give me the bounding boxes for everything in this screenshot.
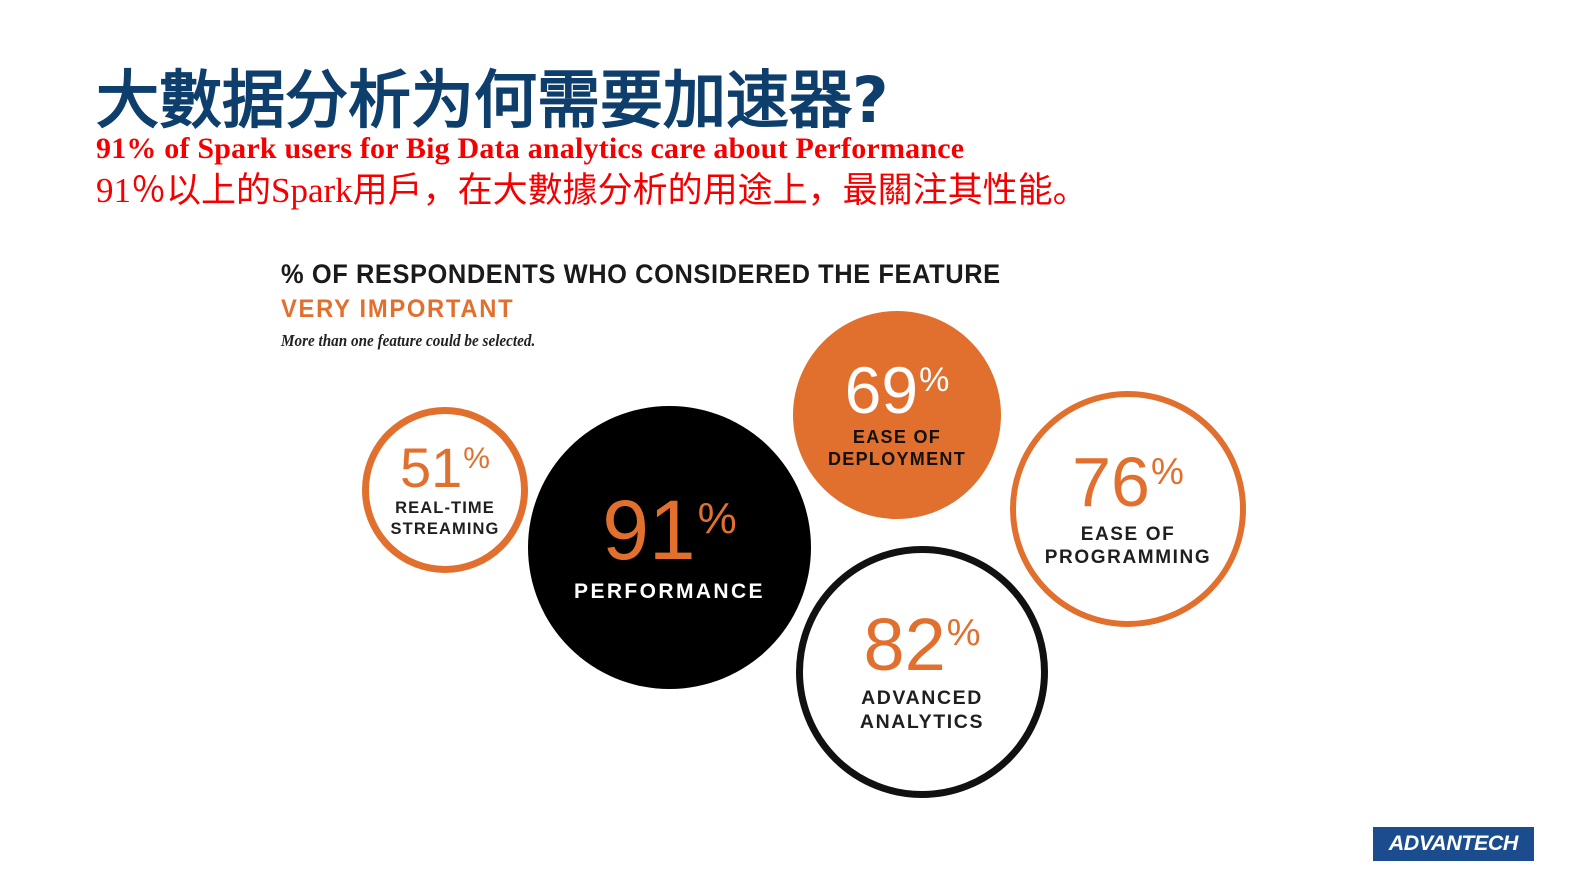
bubble-real-time-streaming: 51 % REAL-TIME STREAMING	[362, 407, 528, 573]
subtitle-block: 91% of Spark users for Big Data analytic…	[96, 131, 1296, 211]
percent-sign: %	[463, 444, 490, 474]
bubble-value-performance: 91 %	[602, 491, 737, 571]
page-title: 大數据分析为何需要加速器?	[96, 68, 889, 134]
bubble-value-real-time-streaming: 51 %	[400, 441, 490, 494]
slide-canvas: 大數据分析为何需要加速器? 91% of Spark users for Big…	[0, 0, 1587, 892]
bubble-advanced-analytics: 82 % ADVANCED ANALYTICS	[796, 546, 1048, 798]
bubble-number: 91	[602, 491, 695, 571]
percent-sign: %	[1151, 453, 1184, 490]
subtitle-chinese: 91％以上的Spark用戶，在大數據分析的用途上，最關注其性能。	[96, 170, 1296, 211]
bubble-ease-of-programming: 76 % EASE OF PROGRAMMING	[1010, 391, 1246, 627]
bubble-label-real-time-streaming: REAL-TIME STREAMING	[391, 498, 500, 538]
infographic-heading-main: % OF RESPONDENTS WHO CONSIDERED THE FEAT…	[281, 259, 1001, 290]
bubble-value-ease-of-programming: 76 %	[1072, 449, 1184, 516]
bubble-number: 82	[863, 610, 945, 680]
bubble-label-advanced-analytics: ADVANCED ANALYTICS	[860, 687, 984, 735]
bubble-performance: 91 % PERFORMANCE	[528, 406, 811, 689]
advantech-logo-text: ADVANTECH	[1389, 832, 1518, 856]
percent-sign: %	[947, 614, 981, 652]
bubble-value-advanced-analytics: 82 %	[863, 610, 980, 680]
subtitle-english: 91% of Spark users for Big Data analytic…	[96, 131, 1296, 168]
advantech-logo: ADVANTECH	[1373, 827, 1534, 861]
bubble-label-performance: PERFORMANCE	[574, 579, 765, 605]
bubble-value-ease-of-deployment: 69 %	[845, 359, 950, 422]
bubble-number: 51	[400, 441, 462, 494]
percent-sign: %	[698, 497, 737, 541]
bubble-label-ease-of-deployment: EASE OF DEPLOYMENT	[828, 427, 966, 471]
bubble-number: 69	[845, 359, 918, 422]
bubble-ease-of-deployment: 69 % EASE OF DEPLOYMENT	[793, 311, 1001, 519]
percent-sign: %	[919, 363, 949, 397]
bubble-label-ease-of-programming: EASE OF PROGRAMMING	[1045, 523, 1211, 569]
bubble-number: 76	[1072, 449, 1150, 516]
